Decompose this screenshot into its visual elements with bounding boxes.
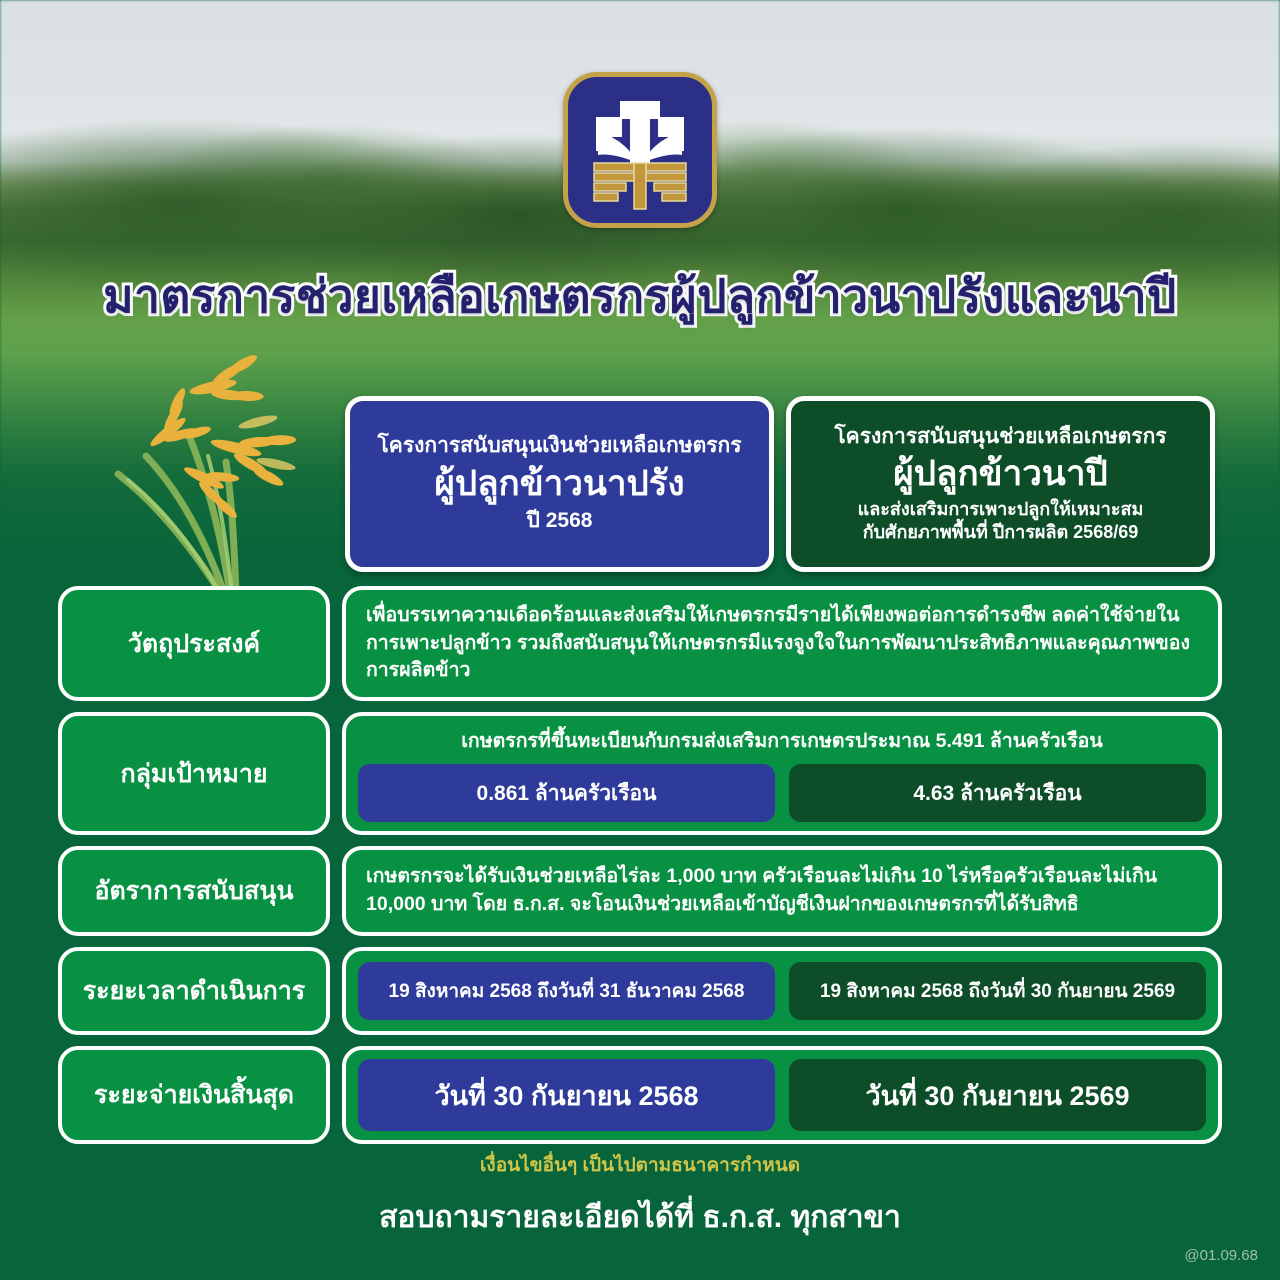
watermark-date: @01.09.68 [1184, 1247, 1258, 1264]
row-content-objective: เพื่อบรรเทาความเดือดร้อนและส่งเสริมให้เก… [342, 586, 1222, 701]
program-year-label: ปี 2568 [527, 507, 593, 534]
comparison-table: วัตถุประสงค์ เพื่อบรรเทาความเดือดร้อนและ… [58, 586, 1222, 1155]
row-label-target-group: กลุ่มเป้าหมาย [58, 712, 330, 835]
table-row-support-rate: อัตราการสนับสนุน เกษตรกรจะได้รับเงินช่วย… [58, 846, 1222, 936]
operation-period-splits: 19 สิงหาคม 2568 ถึงวันที่ 31 ธันวาคม 256… [358, 962, 1206, 1020]
table-row-target-group: กลุ่มเป้าหมาย เกษตรกรที่ขึ้นทะเบียนกับกร… [58, 712, 1222, 835]
program-lead-label: โครงการสนับสนุนช่วยเหลือเกษตรกร [834, 424, 1166, 450]
row-content-operation-period: 19 สิงหาคม 2568 ถึงวันที่ 31 ธันวาคม 256… [342, 947, 1222, 1035]
payment-deadline-na-pee[interactable]: วันที่ 30 กันยายน 2569 [789, 1059, 1206, 1131]
row-content-payment-deadline: วันที่ 30 กันยายน 2568 วันที่ 30 กันยายน… [342, 1046, 1222, 1144]
table-row-operation-period: ระยะเวลาดำเนินการ 19 สิงหาคม 2568 ถึงวัน… [58, 947, 1222, 1035]
objective-text: เพื่อบรรเทาความเดือดร้อนและส่งเสริมให้เก… [366, 602, 1198, 685]
baac-logo-icon [563, 72, 717, 228]
program-lead-label: โครงการสนับสนุนเงินช่วยเหลือเกษตรกร [378, 433, 742, 459]
target-group-splits: 0.861 ล้านครัวเรือน 4.63 ล้านครัวเรือน [358, 764, 1206, 822]
operation-period-na-pee[interactable]: 19 สิงหาคม 2568 ถึงวันที่ 30 กันยายน 256… [789, 962, 1206, 1020]
target-group-note: เกษตรกรที่ขึ้นทะเบียนกับกรมส่งเสริมการเก… [358, 725, 1206, 756]
program-sub-label-1: และส่งเสริมการเพาะปลูกให้เหมาะสม [858, 498, 1144, 521]
row-content-support-rate: เกษตรกรจะได้รับเงินช่วยเหลือไร่ละ 1,000 … [342, 846, 1222, 936]
page-title: มาตรการช่วยเหลือเกษตรกรผู้ปลูกข้าวนาปรัง… [0, 260, 1280, 333]
payment-deadline-splits: วันที่ 30 กันยายน 2568 วันที่ 30 กันยายน… [358, 1059, 1206, 1131]
target-group-value-nga-prang[interactable]: 0.861 ล้านครัวเรือน [358, 764, 775, 822]
program-cards: โครงการสนับสนุนเงินช่วยเหลือเกษตรกร ผู้ป… [345, 396, 1215, 572]
table-row-objective: วัตถุประสงค์ เพื่อบรรเทาความเดือดร้อนและ… [58, 586, 1222, 701]
row-label-operation-period: ระยะเวลาดำเนินการ [58, 947, 330, 1035]
footer-contact-note: สอบถามรายละเอียดได้ที่ ธ.ก.ส. ทุกสาขา [0, 1194, 1280, 1241]
baac-logo [563, 72, 717, 228]
program-sub-label-2: กับศักยภาพพื้นที่ ปีการผลิต 2568/69 [863, 521, 1139, 544]
table-row-payment-deadline: ระยะจ่ายเงินสิ้นสุด วันที่ 30 กันยายน 25… [58, 1046, 1222, 1144]
row-label-payment-deadline: ระยะจ่ายเงินสิ้นสุด [58, 1046, 330, 1144]
operation-period-nga-prang[interactable]: 19 สิงหาคม 2568 ถึงวันที่ 31 ธันวาคม 256… [358, 962, 775, 1020]
payment-deadline-nga-prang[interactable]: วันที่ 30 กันยายน 2568 [358, 1059, 775, 1131]
program-main-label: ผู้ปลูกข้าวนาปรัง [434, 462, 684, 506]
support-rate-text: เกษตรกรจะได้รับเงินช่วยเหลือไร่ละ 1,000 … [366, 863, 1198, 918]
program-card-nga-prang[interactable]: โครงการสนับสนุนเงินช่วยเหลือเกษตรกร ผู้ป… [345, 396, 774, 572]
target-group-value-na-pee[interactable]: 4.63 ล้านครัวเรือน [789, 764, 1206, 822]
footer-conditions-note: เงื่อนไขอื่นๆ เป็นไปตามธนาคารกำหนด [0, 1150, 1280, 1180]
row-content-target-group: เกษตรกรที่ขึ้นทะเบียนกับกรมส่งเสริมการเก… [342, 712, 1222, 835]
infographic-poster: มาตรการช่วยเหลือเกษตรกรผู้ปลูกข้าวนาปรัง… [0, 0, 1280, 1280]
footer: เงื่อนไขอื่นๆ เป็นไปตามธนาคารกำหนด สอบถา… [0, 1150, 1280, 1241]
program-main-label: ผู้ปลูกข้าวนาปี [893, 452, 1107, 496]
program-card-na-pee[interactable]: โครงการสนับสนุนช่วยเหลือเกษตรกร ผู้ปลูกข… [786, 396, 1215, 572]
row-label-support-rate: อัตราการสนับสนุน [58, 846, 330, 936]
row-label-objective: วัตถุประสงค์ [58, 586, 330, 701]
